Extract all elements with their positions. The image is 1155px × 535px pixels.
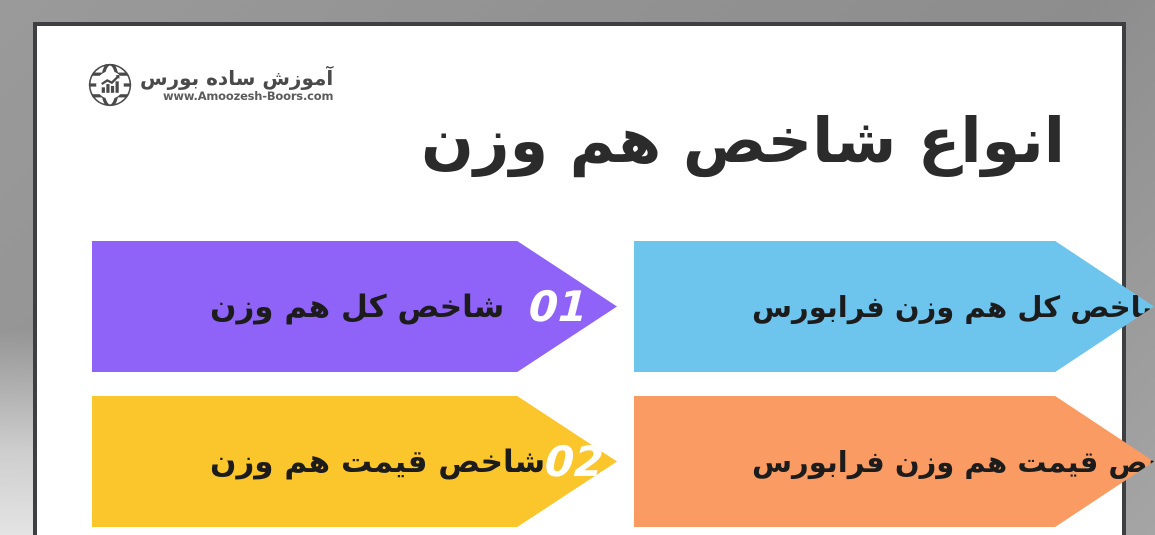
item-label: شاخص قیمت هم وزن (210, 444, 545, 480)
brand-text: آموزش ساده بورس www.Amoozesh-Boors.com (140, 68, 333, 103)
list-item-03[interactable]: شاخص کل هم وزن فرابورس 03 (634, 241, 1154, 372)
item-number: 02 (544, 437, 605, 486)
brand-website: www.Amoozesh-Boors.com (163, 91, 333, 103)
list-item-01[interactable]: شاخص کل هم وزن 01 (92, 241, 617, 372)
item-label: شاخص قیمت هم وزن فرابورس (752, 445, 1155, 479)
slide-frame: آموزش ساده بورس www.Amoozesh-Boors.com ا… (0, 0, 1155, 535)
slide-canvas: آموزش ساده بورس www.Amoozesh-Boors.com ا… (37, 26, 1122, 535)
globe-chart-icon (87, 62, 133, 108)
item-label: شاخص کل هم وزن (210, 289, 504, 325)
list-item-04[interactable]: شاخص قیمت هم وزن فرابورس 04 (634, 396, 1154, 527)
item-label: شاخص کل هم وزن فرابورس (752, 290, 1155, 324)
page-title: انواع شاخص هم وزن (365, 104, 1065, 177)
list-item-02[interactable]: شاخص قیمت هم وزن 02 (92, 396, 617, 527)
item-number: 01 (527, 282, 588, 331)
brand-logo[interactable]: آموزش ساده بورس www.Amoozesh-Boors.com (87, 62, 333, 108)
brand-name: آموزش ساده بورس (140, 68, 333, 88)
